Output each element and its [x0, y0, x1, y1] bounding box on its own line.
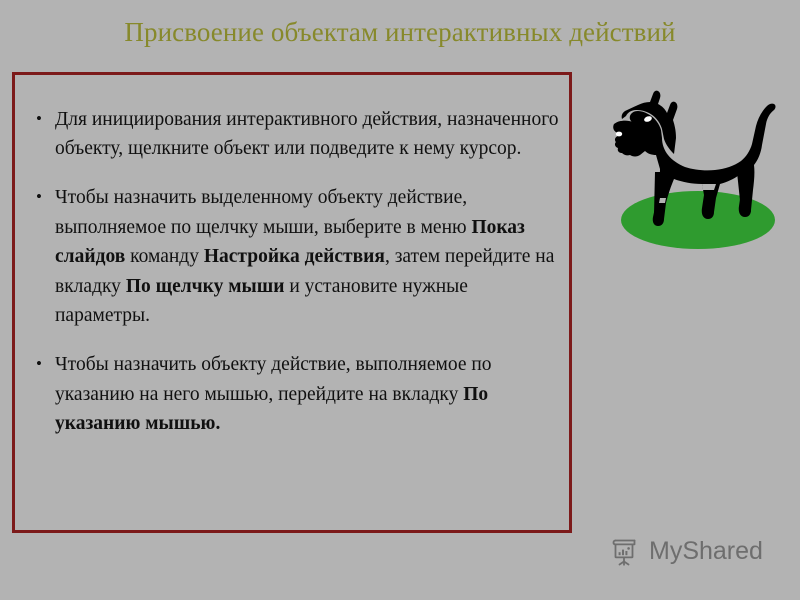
list-item: Чтобы назначить выделенному объекту дейс…	[29, 183, 561, 331]
content-box: Для инициирования интерактивного действи…	[12, 72, 572, 533]
body-text: Для инициирования интерактивного действи…	[55, 109, 558, 160]
body-text: Чтобы назначить выделенному объекту дейс…	[55, 187, 471, 238]
list-item: Для инициирования интерактивного действи…	[29, 105, 561, 164]
myshared-logo-text: MyShared	[649, 537, 763, 565]
emphasis-text: Настройка действия	[204, 246, 385, 267]
body-text: команду	[125, 246, 204, 267]
bullet-list: Для инициирования интерактивного действи…	[29, 85, 561, 451]
leg-gap-highlight	[702, 184, 716, 190]
body-text: Чтобы назначить объекту действие, выполн…	[55, 354, 492, 405]
scottish-terrier-svg	[598, 72, 793, 257]
chart-dot	[627, 547, 630, 550]
leg-gap-highlight-2	[659, 198, 666, 203]
dog-nose-highlight	[616, 132, 622, 137]
flipchart-chart-icon	[610, 535, 642, 567]
scottish-terrier-illustration	[598, 72, 793, 257]
slide-canvas: Присвоение объектам интерактивных действ…	[0, 0, 800, 600]
page-title: Присвоение объектам интерактивных действ…	[0, 16, 800, 48]
list-item: Чтобы назначить объекту действие, выполн…	[29, 350, 561, 439]
myshared-logo[interactable]: MyShared	[610, 535, 763, 567]
dog-front-legs-path	[654, 172, 664, 219]
emphasis-text: По щелчку мыши	[126, 276, 285, 297]
